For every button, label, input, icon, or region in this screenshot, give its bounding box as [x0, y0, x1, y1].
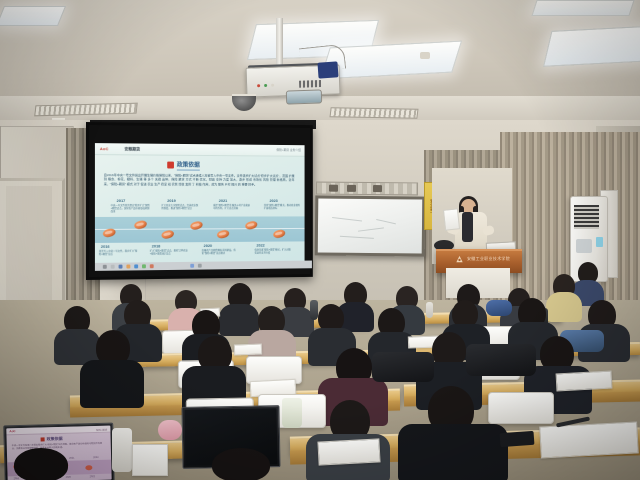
slide-logo: AoC: [100, 146, 109, 151]
slide-paragraph: 自2016年中央一号文件提出开展生猪价格保险以来，"保险+期货"试点连续八年被写…: [104, 173, 295, 187]
timeline-year: 2018: [152, 243, 161, 248]
notebook: [556, 371, 613, 392]
timeline-note: 加强农产品期货期权市场建设，优化"保险+期货"试点模式: [202, 249, 240, 255]
ac-display-icon: [596, 237, 603, 247]
slide-title-group: 政策依据: [167, 160, 200, 171]
ceiling-speaker-icon: [420, 52, 430, 59]
timeline-year: 2020: [204, 243, 212, 248]
notebook: [234, 344, 262, 356]
taskbar-icon[interactable]: [142, 264, 146, 268]
panel-light-icon: [543, 25, 640, 67]
panel-light-icon: [0, 6, 66, 26]
smartphone[interactable]: [500, 431, 535, 447]
taskbar-icon[interactable]: [119, 265, 123, 269]
taskbar-icon[interactable]: [103, 265, 107, 269]
taskbar[interactable]: [95, 261, 312, 271]
thermos: [310, 300, 318, 320]
panel-light-icon: [531, 0, 634, 16]
projection-screen: AoC 安粮期货 保险+期货 业务介绍 政策依据 自2016年中央一号文件提出开…: [86, 122, 313, 280]
projector-port: [317, 61, 338, 78]
slide-title: 政策依据: [177, 160, 200, 170]
marker-tray: [316, 182, 418, 196]
student-body: [80, 360, 144, 408]
timeline-note: 扩大"保险+期货"试点，探索'订单农业+保险+期货(权)'试点: [150, 249, 189, 255]
taskbar-icon[interactable]: [190, 264, 194, 268]
water-bottle: [426, 302, 433, 318]
presenter-scarf: [462, 212, 473, 242]
podium-institution-text: 安徽工业职业技术学院: [467, 256, 510, 262]
student-head: [14, 448, 68, 480]
slide-logo-subtitle: 安粮期货: [124, 146, 140, 152]
timeline-note: 发挥"保险+期货"在服务乡村产业发展中的作用，扩大试点范围: [213, 204, 251, 210]
taskbar-icon[interactable]: [111, 265, 115, 269]
pencil-case: [158, 420, 182, 440]
timeline-year: 2019: [167, 198, 176, 203]
taskbar-icon[interactable]: [150, 264, 154, 268]
presentation-slide: AoC 安粮期货 保险+期货 业务介绍 政策依据 自2016年中央一号文件提出开…: [95, 143, 305, 263]
timeline-year: 2016: [101, 244, 110, 249]
notebook: [132, 444, 168, 476]
timeline-year: 2021: [219, 198, 227, 203]
water-bottle: [112, 428, 132, 472]
drink-cup: [282, 398, 302, 428]
whiteboard: [315, 195, 426, 256]
backpack: [466, 344, 536, 376]
timeline-year: 2023: [269, 198, 277, 203]
student-head: [212, 448, 270, 480]
timeline-year: 2017: [117, 198, 126, 203]
timeline-note: 扩大农业大灾保险试点，完善农业保险制度，推进"保险+期货"试点: [161, 204, 199, 210]
air-vent-icon: [329, 107, 418, 119]
projector-lens-icon: [286, 89, 322, 104]
notebook: [539, 421, 639, 458]
timeline-note: 首次写入中央一号文件，稳步扩大"保险+期货"试点: [99, 250, 138, 256]
slide-title-marker: [167, 161, 174, 168]
student-body: [219, 304, 259, 336]
backpack: [372, 352, 434, 382]
presenter-handout: [443, 208, 460, 230]
student-body: [546, 292, 582, 322]
taskbar-icon[interactable]: [198, 264, 202, 268]
ac-grille-icon: [574, 205, 599, 229]
chair[interactable]: [488, 392, 554, 424]
notebook: [317, 438, 380, 465]
timeline-note: 中央一号文件首次提出"稳步扩大"保险+期货试点，深化农产品价格形成机制改革: [111, 204, 150, 213]
slide-header-right-text: 保险+期货 业务介绍: [276, 148, 301, 152]
lecture-hall-photo: AoC 安粮期货 保险+期货 业务介绍 政策依据 自2016年中央一号文件提出开…: [0, 0, 640, 480]
timeline-year: 2022: [256, 243, 264, 248]
university-logo-icon: [455, 255, 464, 264]
taskbar-icon[interactable]: [134, 264, 138, 268]
ac-control-panel[interactable]: [576, 239, 592, 253]
taskbar-icon[interactable]: [126, 265, 130, 269]
timeline-note: 优化"保险+期货"模式，推动农业保险扩面增品提标: [264, 204, 301, 210]
timeline-note: 优化完善"保险+期货"模式，扩大对脱贫县的支持力度: [255, 248, 292, 254]
student-body: [398, 424, 508, 480]
projector-mount: [276, 18, 283, 70]
backpack: [486, 300, 512, 316]
